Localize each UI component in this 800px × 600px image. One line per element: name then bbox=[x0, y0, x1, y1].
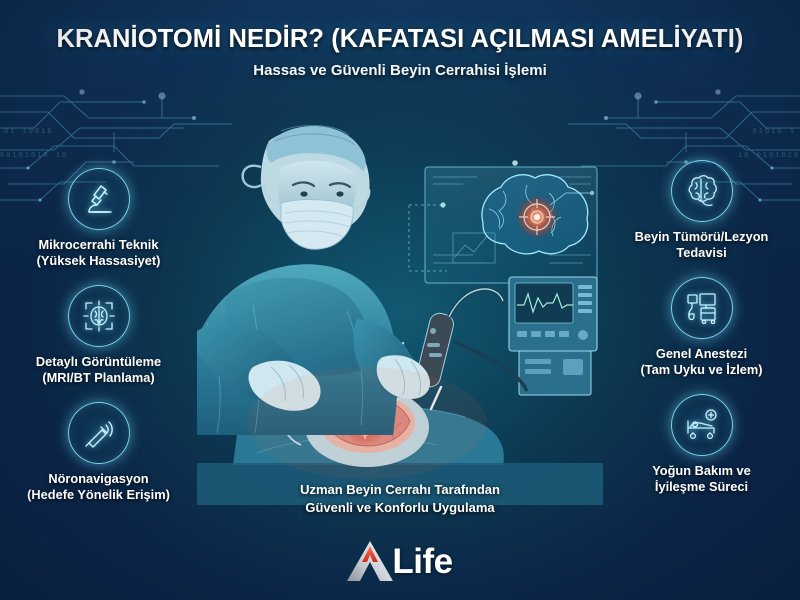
brand-logo-text: Life bbox=[392, 544, 452, 579]
left-feature-column: Mikrocerrahi Teknik (Yüksek Hassasiyet) … bbox=[0, 168, 201, 520]
infographic-poster: 01 10010 00101010 10 01010 1 10 0101010 … bbox=[0, 0, 800, 600]
probe-icon bbox=[68, 402, 130, 464]
vital-signs-monitor bbox=[509, 277, 597, 395]
feature-intensive-care[interactable]: Yoğun Bakım ve İyileşme Süreci bbox=[599, 394, 800, 494]
hospital-bed-icon bbox=[671, 394, 733, 456]
brain-icon bbox=[671, 160, 733, 222]
feature-label: Mikrocerrahi Teknik (Yüksek Hassasiyet) bbox=[0, 237, 201, 268]
holographic-brain-display bbox=[409, 160, 597, 283]
a-chevron-logo-icon bbox=[347, 540, 393, 582]
feature-label: Detaylı Görüntüleme (MRI/BT Planlama) bbox=[0, 354, 201, 385]
feature-label: Beyin Tümörü/Lezyon Tedavisi bbox=[599, 229, 800, 260]
caption-line-2: Güvenli ve Konforlu Uygulama bbox=[0, 499, 800, 517]
anesthesia-cart-icon bbox=[671, 277, 733, 339]
feature-tumor-treatment[interactable]: Beyin Tümörü/Lezyon Tedavisi bbox=[599, 160, 800, 260]
craniotomy-surgery-illustration bbox=[197, 105, 603, 505]
right-feature-column: Beyin Tümörü/Lezyon Tedavisi bbox=[599, 160, 800, 512]
feature-label: Genel Anestezi (Tam Uyku ve İzlem) bbox=[599, 346, 800, 377]
brain-scan-icon bbox=[68, 285, 130, 347]
header: KRANİOTOMİ NEDİR? (KAFATASI AÇILMASI AME… bbox=[0, 0, 800, 79]
bottom-caption: Uzman Beyin Cerrahı Tarafından Güvenli v… bbox=[0, 481, 800, 516]
feature-imaging[interactable]: Detaylı Görüntüleme (MRI/BT Planlama) bbox=[0, 285, 201, 385]
circuit-micro-label-4: 10 0101010 bbox=[738, 152, 800, 160]
microscope-icon bbox=[68, 168, 130, 230]
circuit-micro-label-2: 00101010 10 bbox=[0, 152, 68, 160]
page-subtitle: Hassas ve Güvenli Beyin Cerrahisi İşlemi bbox=[0, 62, 800, 79]
page-title: KRANİOTOMİ NEDİR? (KAFATASI AÇILMASI AME… bbox=[0, 26, 800, 53]
feature-microsurgery[interactable]: Mikrocerrahi Teknik (Yüksek Hassasiyet) bbox=[0, 168, 201, 268]
brand-logo[interactable]: Life bbox=[0, 540, 800, 582]
circuit-micro-label-3: 01010 1 bbox=[753, 128, 796, 136]
feature-anesthesia[interactable]: Genel Anestezi (Tam Uyku ve İzlem) bbox=[599, 277, 800, 377]
circuit-micro-label-1: 01 10010 bbox=[4, 128, 54, 136]
caption-line-1: Uzman Beyin Cerrahı Tarafından bbox=[0, 481, 800, 499]
